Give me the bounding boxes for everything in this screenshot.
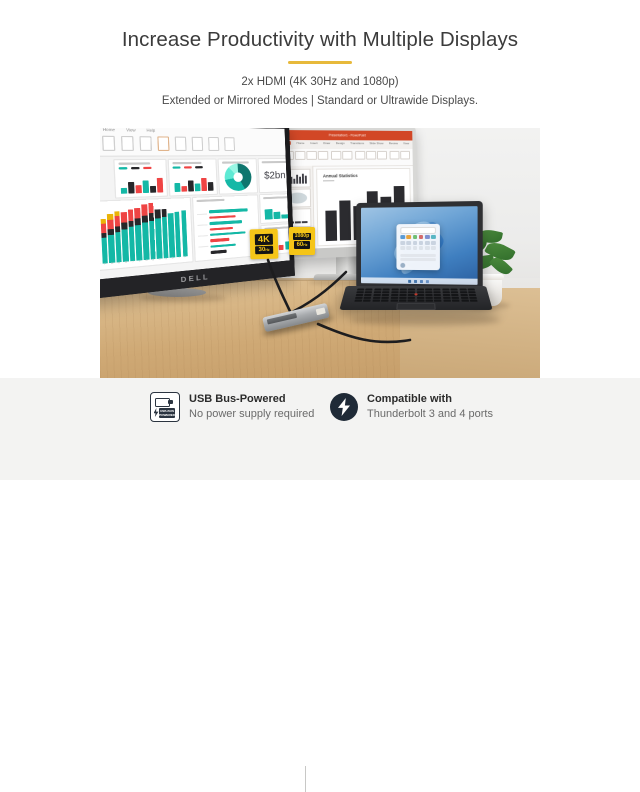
subtitle-line-1: 2x HDMI (4K 30Hz and 1080p) [0, 76, 640, 88]
bi-toolbar [100, 135, 235, 151]
bi-tool-refresh[interactable] [121, 136, 134, 151]
ribbon-menu: File Home Insert Draw Design Transitions… [282, 141, 409, 145]
bi-tab-view[interactable]: View [126, 128, 136, 133]
badge-4k-30hz: 4K 30Hz [250, 229, 279, 260]
menu-item-insert[interactable]: Insert [310, 141, 317, 145]
lightning-bolt-icon [154, 408, 159, 417]
bi-tool-publish[interactable] [224, 137, 235, 151]
card-title [172, 162, 201, 164]
taskbar-edge-icon[interactable] [425, 280, 428, 283]
tool-section[interactable] [318, 151, 327, 162]
laptop [346, 202, 486, 322]
feature-title: USB Bus-Powered [189, 392, 314, 407]
card-legend [119, 167, 152, 169]
laptop-shadow [350, 314, 500, 326]
hub-port [316, 307, 326, 315]
feature-bar: USB-BUS POWERED USB Bus-Powered No power… [0, 378, 640, 480]
taskbar[interactable] [361, 277, 478, 285]
keyboard-row [354, 300, 477, 302]
thunderbolt-icon [330, 393, 358, 421]
dashboard-card[interactable] [113, 159, 168, 199]
tool-dictate[interactable] [400, 151, 408, 161]
ribbon-toolbar [279, 149, 413, 167]
dashboard-kpi-card[interactable]: $2bn [258, 158, 290, 193]
bi-tool-textbox[interactable] [157, 136, 169, 151]
chart-y-axis [197, 209, 210, 256]
column [181, 210, 188, 256]
bi-tool-button[interactable] [175, 137, 187, 151]
menu-item-slideshow[interactable]: Slide Show [369, 141, 383, 145]
bi-tab-strip: File Home View Help [100, 128, 155, 133]
badge-refresh: 60Hz [294, 241, 311, 249]
badge-resolution: 1080p [293, 233, 312, 240]
menu-item-transitions[interactable]: Transitions [350, 141, 364, 145]
page-title: Increase Productivity with Multiple Disp… [0, 28, 640, 52]
document-title: Presentation1 - PowerPoint [329, 133, 366, 137]
tool-arrange[interactable] [366, 151, 374, 162]
subtitle-line-2: Extended or Mirrored Modes | Standard or… [0, 95, 640, 107]
kpi-value: $2bn [259, 159, 290, 192]
tool-quickstyles[interactable] [377, 151, 385, 162]
tool-reset[interactable] [306, 151, 315, 162]
dashboard-card[interactable] [259, 193, 290, 224]
product-marketing-image: Increase Productivity with Multiple Disp… [0, 0, 640, 480]
usb-plug-tip [168, 400, 173, 404]
laptop-base [339, 286, 492, 310]
header-section: Increase Productivity with Multiple Disp… [0, 0, 640, 128]
laptop-lid [356, 201, 482, 291]
card-title [196, 199, 224, 202]
feature-description: Thunderbolt 3 and 4 ports [367, 407, 493, 422]
thunderbolt-bolt-shape [337, 398, 352, 416]
feature-usb-bus-powered: USB-BUS POWERED USB Bus-Powered No power… [150, 392, 314, 422]
card-bar-chart [174, 171, 214, 192]
taskbar-start-icon[interactable] [408, 279, 411, 282]
usb-bus-powered-icon: USB-BUS POWERED [150, 392, 180, 422]
start-menu-search-input[interactable] [400, 227, 436, 234]
menu-item-view[interactable]: View [403, 141, 409, 145]
card-title [263, 196, 288, 199]
trackpoint-nub[interactable] [414, 293, 417, 295]
start-menu-user-avatar[interactable] [400, 263, 405, 268]
dashboard-card[interactable] [168, 158, 218, 196]
bi-tool-shapes[interactable] [192, 137, 204, 151]
tool-shapes[interactable] [355, 151, 363, 162]
keyboard-row [357, 289, 475, 291]
product-photo: P Presentation1 - PowerPoint File Home I… [100, 128, 540, 378]
card-legend [173, 166, 203, 168]
tool-paragraph[interactable] [342, 151, 351, 162]
horizontal-bar-chart [209, 207, 254, 255]
card-funnel-chart [264, 205, 288, 219]
feature-thunderbolt: Compatible with Thunderbolt 3 and 4 port… [330, 392, 493, 422]
feature-divider [305, 766, 306, 792]
menu-item-home[interactable]: Home [297, 141, 305, 145]
dashboard-card[interactable] [218, 158, 258, 195]
slide-title-underline [323, 180, 334, 181]
feature-title: Compatible with [367, 392, 493, 407]
slide-title: Annual Statistics [323, 173, 358, 178]
keyboard-row [355, 297, 477, 299]
title-accent-rule [288, 61, 352, 64]
card-title [118, 162, 150, 165]
start-menu-app-grid[interactable] [400, 235, 436, 250]
menu-item-review[interactable]: Review [389, 141, 398, 145]
badge-1080p-60hz: 1080p 60Hz [289, 227, 315, 255]
tool-editing[interactable] [390, 151, 398, 162]
usb-bus-powered-label: USB-BUS POWERED [159, 408, 175, 418]
bi-tab-help[interactable]: Help [146, 128, 155, 133]
laptop-trackpad[interactable] [396, 303, 435, 310]
feature-text-block: Compatible with Thunderbolt 3 and 4 port… [367, 392, 493, 422]
tool-layout[interactable] [295, 151, 304, 162]
badge-refresh: 30Hz [256, 246, 273, 254]
bi-tab-home[interactable]: Home [103, 128, 115, 132]
start-menu[interactable] [396, 224, 439, 270]
feature-description: No power supply required [189, 407, 314, 422]
bi-tool-filters[interactable] [208, 137, 219, 151]
tool-font[interactable] [331, 151, 340, 162]
bi-tool-newvisual[interactable] [139, 136, 152, 151]
laptop-screen [361, 206, 478, 285]
menu-item-design[interactable]: Design [336, 141, 345, 145]
hub-top-panel [267, 313, 297, 325]
card-bar-chart [120, 172, 163, 194]
taskbar-explorer-icon[interactable] [419, 280, 422, 283]
taskbar-search-icon[interactable] [414, 279, 417, 282]
bi-tool-getdata[interactable] [102, 136, 115, 151]
badge-resolution: 4K [255, 234, 273, 245]
start-menu-recommended-list[interactable] [400, 254, 436, 263]
card-donut-chart [224, 164, 252, 192]
feature-text-block: USB Bus-Powered No power supply required [189, 392, 314, 422]
dashboard-column-chart-card[interactable]: JFMAMJJASONDJF [100, 197, 194, 272]
menu-item-draw[interactable]: Draw [323, 141, 330, 145]
